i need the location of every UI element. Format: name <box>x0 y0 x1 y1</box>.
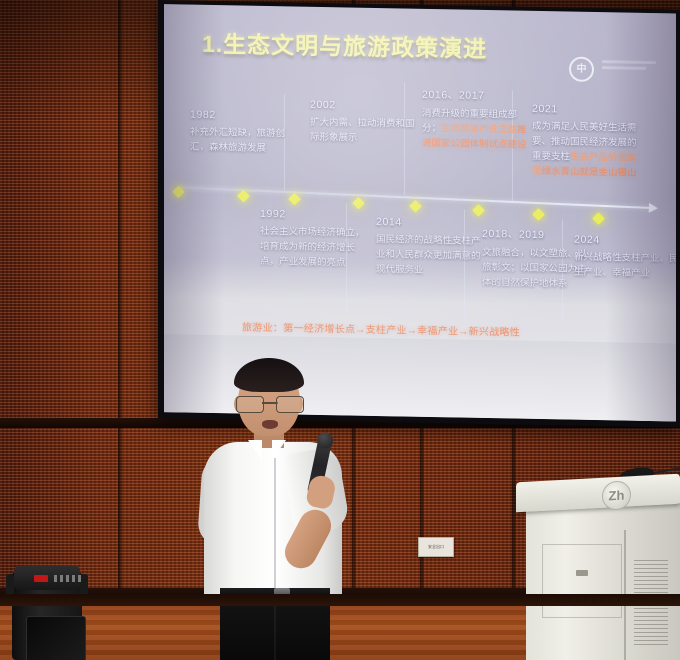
timeline-node <box>237 190 250 203</box>
timeline-body: 社会主义市场经济确立，培育成为新的经济增长点，产业发展的亮点 <box>260 224 372 271</box>
timeline-item-1992: 1992 社会主义市场经济确立，培育成为新的经济增长点，产业发展的亮点 <box>260 208 372 271</box>
mouth <box>262 420 278 429</box>
timeline-node <box>472 204 485 217</box>
wall-seam <box>118 0 122 600</box>
axis-arrow-icon <box>649 203 658 213</box>
timeline-item-2002: 2002 扩大内需、拉动消费和国际形象展示 <box>310 99 422 147</box>
timeline-node <box>352 197 365 210</box>
slide-title: 1.生态文明与旅游政策演进 <box>202 25 487 64</box>
timeline-year: 2021 <box>532 103 644 117</box>
podium-handle <box>576 570 588 576</box>
amplifier-control-panel[interactable] <box>14 566 80 590</box>
timeline-body: 补充外汇短缺，旅游创汇，森林旅游发展 <box>190 125 302 157</box>
timeline-year: 2016、2017 <box>422 87 534 104</box>
exit-sign: 安全出口 <box>418 537 454 557</box>
timeline-year: 1982 <box>190 109 302 123</box>
podium-body <box>526 504 680 660</box>
podium-panel <box>542 544 622 618</box>
left-lens <box>236 396 264 413</box>
right-lens <box>276 396 304 413</box>
university-emblem-icon: 中 <box>569 57 594 82</box>
timeline-year: 2002 <box>310 99 422 113</box>
timeline-year: 2024 <box>574 234 676 248</box>
trouser-seam <box>274 602 276 660</box>
microphone-head <box>316 431 335 450</box>
amplifier-display <box>34 575 48 582</box>
timeline-item-2014: 2014 国民经济的战略性支柱产业和人民群众更加满意的现代服务业 <box>376 216 488 279</box>
timeline-node <box>532 208 545 221</box>
floor-edge-trim <box>0 594 680 606</box>
timeline-body: 国民经济的战略性支柱产业和人民群众更加满意的现代服务业 <box>376 232 488 279</box>
timeline-item-1982: 1982 补充外汇短缺，旅游创汇，森林旅游发展 <box>190 109 302 157</box>
shirt-collar-left <box>248 440 262 460</box>
portable-amplifier <box>4 562 90 660</box>
amplifier-speaker-grille <box>26 616 86 660</box>
hair <box>234 358 304 392</box>
timeline-highlight-2: 绿水青山就是金山银山 <box>542 166 637 179</box>
timeline-year: 1992 <box>260 208 372 222</box>
university-wordmark <box>602 60 668 79</box>
presentation-photo: 安全出口 1.生态文明与旅游政策演进 中 <box>0 0 680 660</box>
timeline-node <box>288 193 301 206</box>
timeline-node <box>592 212 605 225</box>
timeline-node <box>409 200 422 213</box>
timeline-body: 消费升级的重要组成部分；生态旅游产业之路推进国家公园体制试点建设 <box>422 106 534 153</box>
timeline-body: 扩大内需、拉动消费和国际形象展示 <box>310 115 422 147</box>
lectern-podium: Zh <box>516 478 680 660</box>
emblem-glyph: 中 <box>577 64 587 74</box>
timeline-item-2021: 2021 成为满足人民美好生活需要、推动国民经济发展的重要支柱生态产品价值实现绿… <box>532 103 644 181</box>
amplifier-buttons[interactable] <box>54 575 82 582</box>
speaker-person <box>196 358 396 660</box>
eyeglasses-icon <box>236 396 304 411</box>
timeline-body: 成为满足人民美好生活需要、推动国民经济发展的重要支柱生态产品价值实现绿水青山就是… <box>532 119 644 181</box>
timeline-year: 2014 <box>376 216 488 230</box>
timeline-body: 新兴战略性支柱产业、民生产业、幸福产业 <box>574 250 676 282</box>
shirt-collar-right <box>272 440 286 460</box>
timeline-item-2024: 2024 新兴战略性支柱产业、民生产业、幸福产业 <box>574 234 676 282</box>
timeline-highlight: 生态旅游产业之路 <box>441 123 517 135</box>
timeline-item-2016-2017: 2016、2017 消费升级的重要组成部分；生态旅游产业之路推进国家公园体制试点… <box>422 87 534 153</box>
seal-glyph: Zh <box>609 489 625 503</box>
shirt-placket <box>274 458 276 594</box>
